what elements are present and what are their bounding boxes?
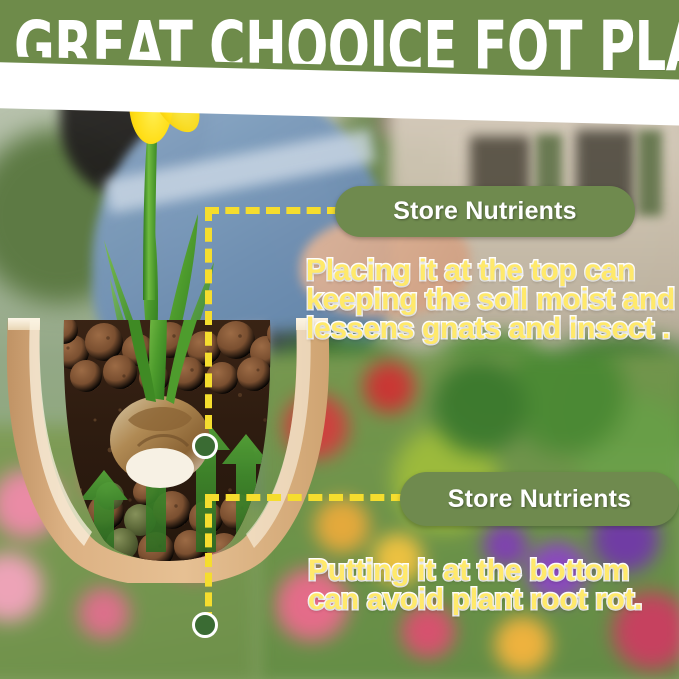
caption-top: Placing it at the top can keeping the so…: [306, 256, 678, 343]
flower-stem: [143, 138, 157, 300]
badge-store-nutrients-bottom[interactable]: Store Nutrients: [400, 472, 679, 526]
badge-store-nutrients-top[interactable]: Store Nutrients: [335, 186, 635, 237]
callout-line-bottom-vertical: [205, 494, 212, 626]
callout-line-top-vertical: [205, 207, 212, 429]
cutaway-plant-pot: [0, 300, 340, 583]
caption-bottom: Putting it at the bottom can avoid plant…: [308, 556, 678, 614]
product-poster: GREAT CHOOICE FOT PLANTS Store Nutrients…: [0, 0, 679, 679]
callout-line-top-horizontal: [205, 207, 341, 214]
badge-label: Store Nutrients: [393, 197, 577, 226]
bottom-layer-marker: [192, 612, 218, 638]
top-layer-marker: [192, 433, 218, 459]
callout-line-bottom-horizontal: [205, 494, 405, 501]
badge-label: Store Nutrients: [448, 485, 632, 514]
